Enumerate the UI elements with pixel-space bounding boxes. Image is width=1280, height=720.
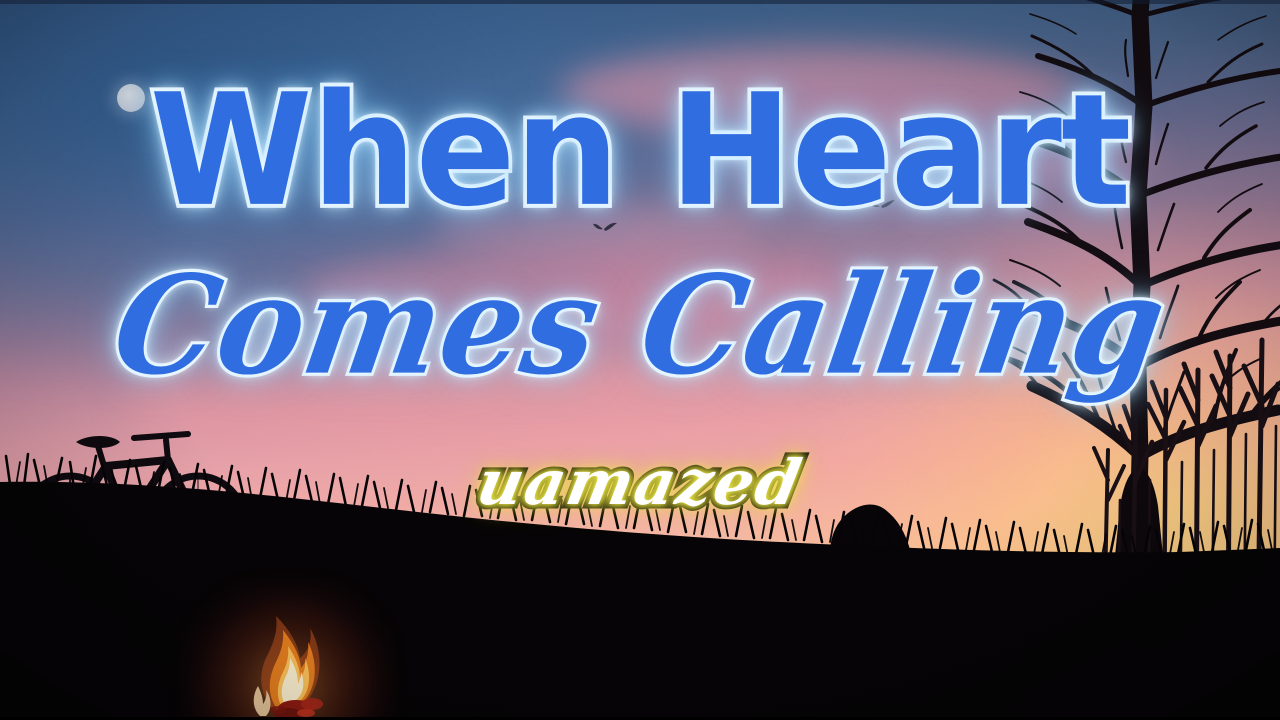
title-card: When Heart Comes Calling uamazed	[0, 0, 1280, 720]
top-letterbox-bar	[0, 0, 1280, 4]
vignette-overlay	[0, 0, 1280, 720]
